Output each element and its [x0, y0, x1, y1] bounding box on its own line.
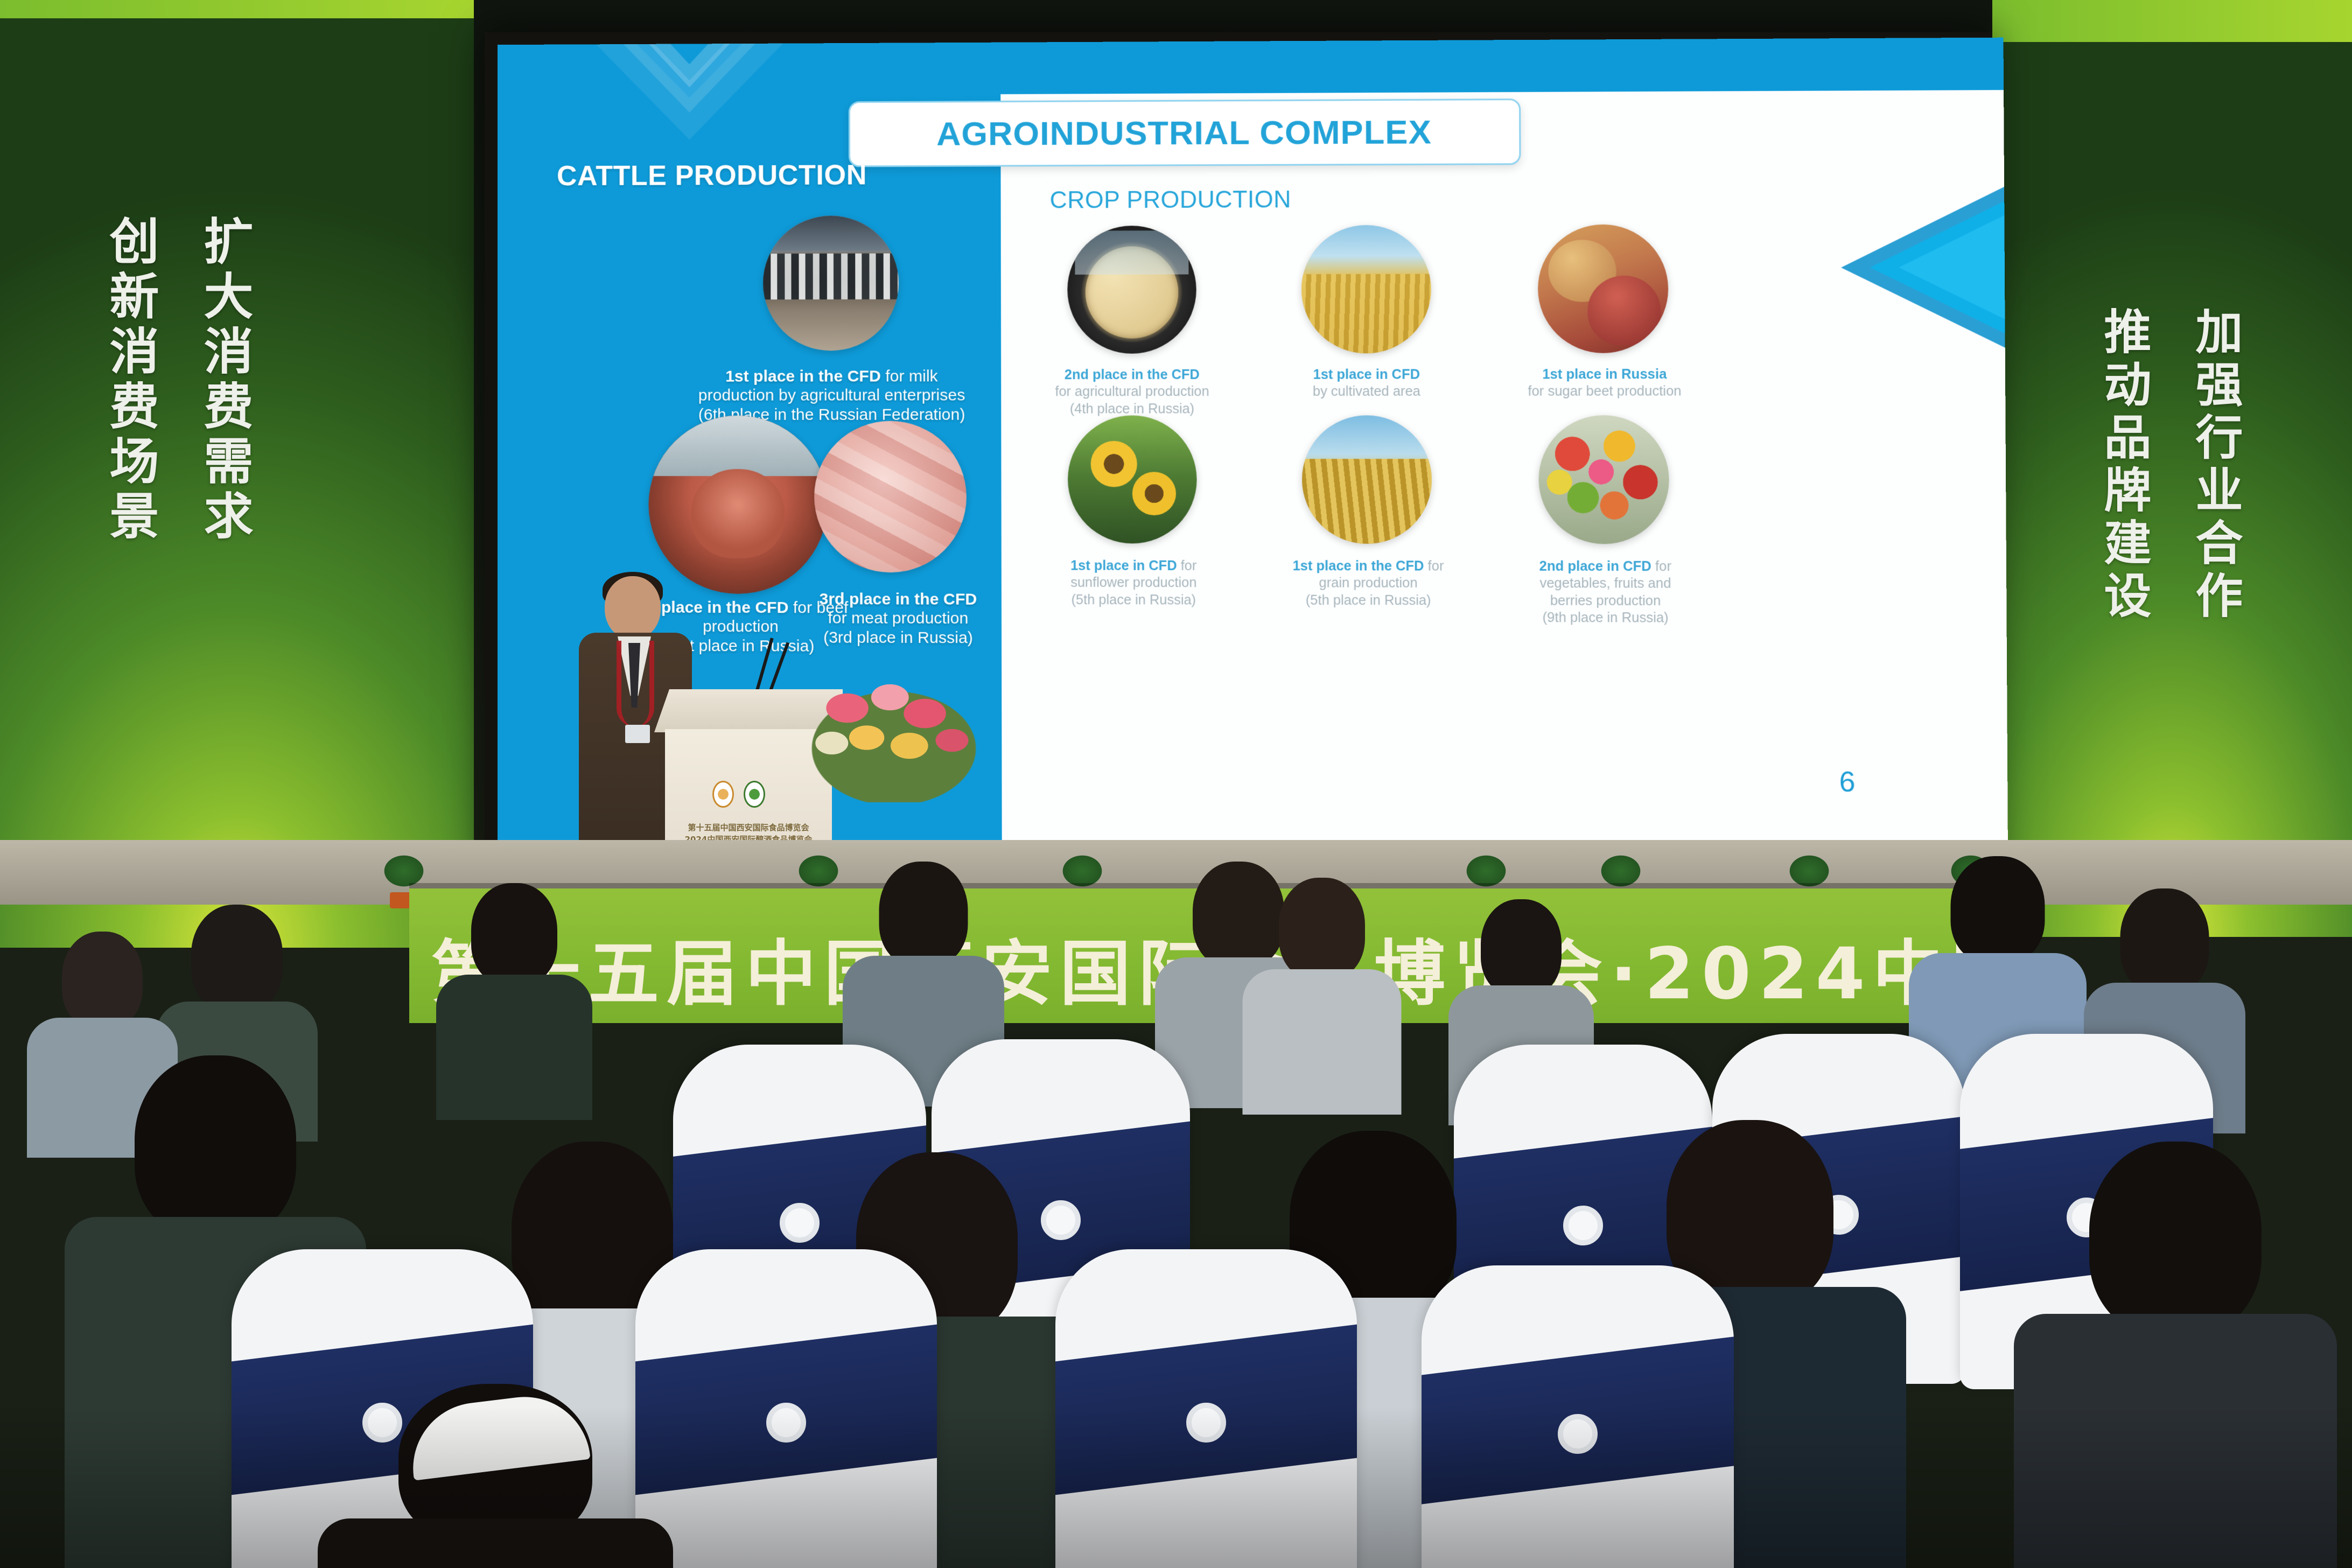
right-green-wall — [1992, 0, 2352, 937]
cattle-production-heading: CATTLE PRODUCTION — [557, 159, 867, 192]
pork-meat-photo — [814, 421, 967, 573]
audience-person — [442, 883, 587, 1115]
crop-caption-sunflower: 1st place in CFD for sunflower productio… — [1022, 557, 1245, 608]
crop-caption-vegetables-fruits: 2nd place in CFD for vegetables, fruits … — [1492, 558, 1720, 626]
expo-logo-icon — [712, 781, 734, 808]
person-torso — [436, 975, 592, 1120]
audience-area — [0, 840, 2352, 1568]
person-head — [135, 1055, 296, 1238]
left-wall-slogan-1: 创新消费场景 — [105, 215, 155, 545]
person-torso — [1243, 969, 1402, 1115]
chair-knot — [1563, 1206, 1603, 1245]
cattle-caption-meat: 3rd place in the CFD for meat production… — [789, 590, 1007, 648]
audience-person — [1249, 878, 1395, 1104]
speaker-badge — [625, 725, 650, 743]
bull-photo — [648, 416, 827, 594]
fruits-vegetables-photo — [1538, 415, 1669, 544]
speaker-lanyard — [617, 641, 654, 727]
slide-title-pill: AGROINDUSTRIAL COMPLEX — [849, 99, 1521, 167]
audience-person-foreground — [2025, 1142, 2326, 1568]
wall-top-band — [1992, 0, 2352, 42]
person-head — [1481, 899, 1562, 996]
chair-knot — [1186, 1403, 1226, 1443]
flower-arrangement — [797, 668, 991, 802]
expo-logo-icon — [744, 781, 765, 808]
crop-caption-cultivated-area: 1st place in CFD by cultivated area — [1257, 366, 1476, 400]
audience-chair[interactable] — [635, 1249, 937, 1568]
conference-hall-scene: 创新消费场景 扩大消费需求 推动品牌建设 加强行业合作 AGROINDUSTRI… — [0, 0, 2352, 1568]
chair-knot — [766, 1403, 806, 1443]
person-torso — [318, 1518, 673, 1568]
grain-ears-photo — [1302, 415, 1432, 544]
person-head — [2089, 1142, 2262, 1335]
cultivated-field-photo — [1301, 225, 1431, 354]
sugar-beet-photo — [1538, 225, 1669, 353]
crop-production-heading: CROP PRODUCTION — [1050, 186, 1292, 214]
crop-caption-sugar-beet: 1st place in Russia for sugar beet produ… — [1489, 366, 1721, 401]
person-head — [1279, 878, 1365, 980]
right-wall-slogan-2: 加强行业合作 — [2192, 307, 2239, 624]
audience-chair[interactable] — [1422, 1265, 1734, 1568]
person-torso — [2014, 1314, 2337, 1568]
speaker-head — [605, 576, 661, 640]
wall-top-band — [0, 0, 474, 18]
chair-knot — [1558, 1414, 1598, 1454]
slide-page-number: 6 — [1839, 766, 1855, 799]
right-wall-slogan-1: 推动品牌建设 — [2100, 307, 2147, 624]
person-head — [1951, 856, 2045, 964]
dairy-barn-photo — [763, 215, 899, 351]
audience-chair[interactable] — [1055, 1249, 1357, 1568]
person-head — [191, 905, 283, 1012]
person-head — [62, 932, 143, 1028]
left-wall-slogan-2: 扩大消费需求 — [199, 215, 249, 545]
person-head — [2120, 888, 2209, 993]
arrow-chevron-right-icon — [1830, 185, 2008, 349]
person-head — [471, 883, 557, 985]
soybean-bowl-photo — [1067, 226, 1196, 354]
sunflower-photo — [1068, 415, 1197, 543]
crop-caption-grain: 1st place in the CFD for grain productio… — [1256, 558, 1481, 609]
crop-caption-agricultural-production: 2nd place in the CFD for agricultural pr… — [1023, 367, 1242, 418]
slide-title: AGROINDUSTRIAL COMPLEX — [936, 113, 1432, 153]
podium-line-1: 第十五届中国西安国际食品博览会 — [654, 822, 843, 833]
person-head — [879, 862, 968, 967]
